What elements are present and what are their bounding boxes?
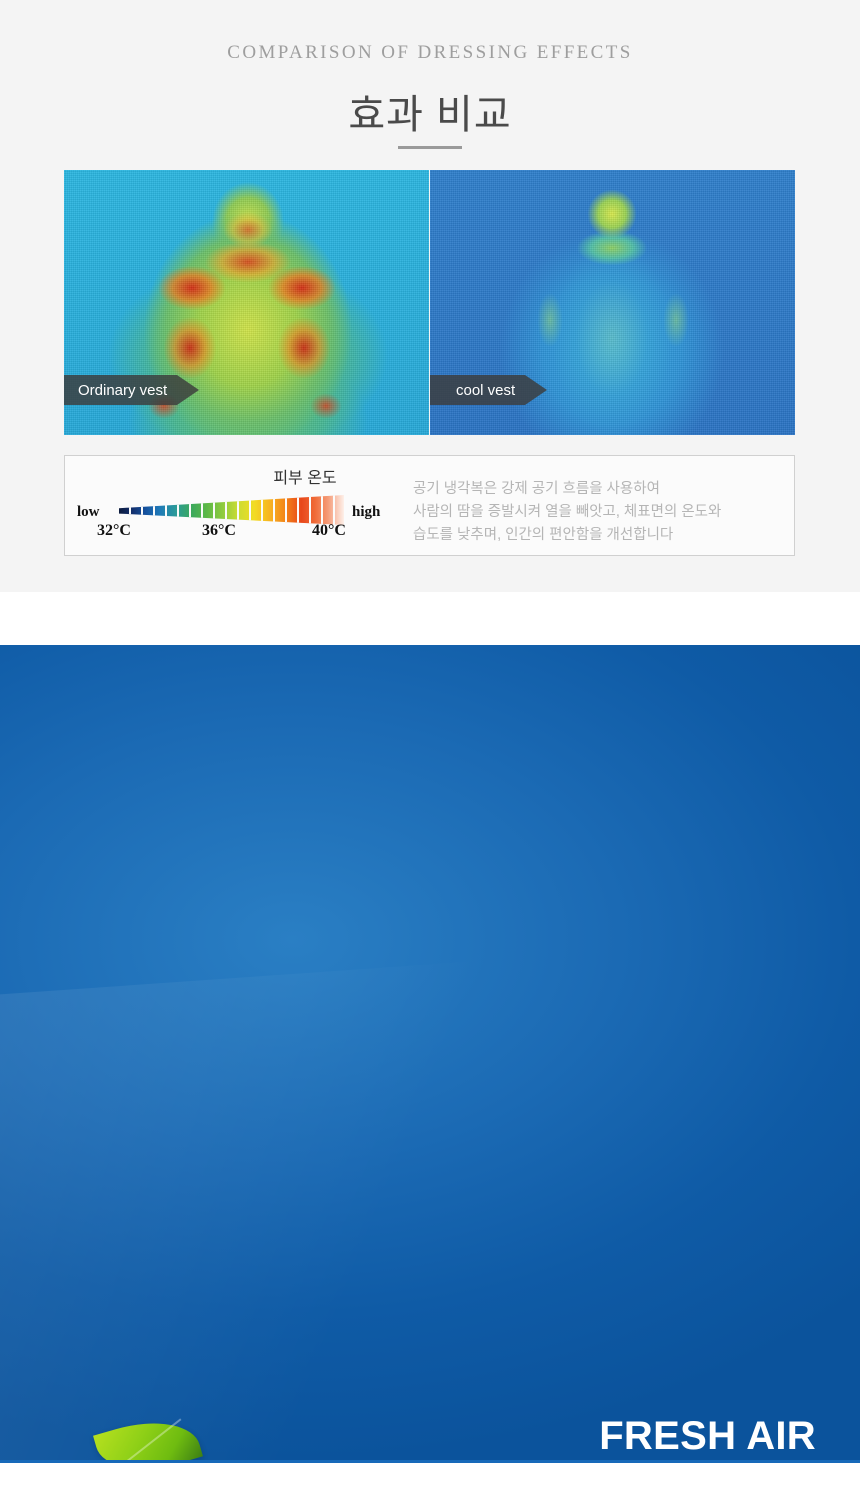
temperature-gradient-ticks bbox=[119, 495, 344, 525]
thermal-label-ordinary-text: Ordinary vest bbox=[64, 375, 177, 405]
comparison-section: COMPARISON OF DRESSING EFFECTS 효과 비교 Ord… bbox=[0, 0, 860, 592]
legend-description: 공기 냉각복은 강제 공기 흐름을 사용하여 사람의 땀을 증발시켜 열을 빼앗… bbox=[413, 478, 773, 547]
headline-line-1: FRESH AIR bbox=[196, 1413, 816, 1459]
legend-description-line-2: 사람의 땀을 증발시켜 열을 빼앗고, 체표면의 온도와 bbox=[413, 501, 773, 524]
background-sheen bbox=[0, 931, 860, 1463]
legend-high-label: high bbox=[352, 504, 380, 521]
thermal-image-ordinary-vest: Ordinary vest bbox=[64, 170, 429, 435]
thermal-label-cool-text: cool vest bbox=[430, 375, 525, 405]
fresh-air-section: FRESH AIR CIRCULATION Change the wind Cr… bbox=[0, 645, 860, 1463]
legend-description-line-1: 공기 냉각복은 강제 공기 흐름을 사용하여 bbox=[413, 478, 773, 501]
temperature-legend-box: 피부 온도 low high 32°C 36°C 40°C 공기 냉각복은 강제… bbox=[64, 455, 795, 556]
page-title: 효과 비교 bbox=[0, 82, 860, 140]
legend-temp-36: 36°C bbox=[202, 522, 236, 540]
arrow-right-icon bbox=[177, 375, 199, 405]
legend-title: 피부 온도 bbox=[195, 464, 415, 488]
section-bottom-edge bbox=[0, 1460, 860, 1463]
thermal-label-cool-vest: cool vest bbox=[430, 375, 547, 405]
legend-low-label: low bbox=[77, 504, 100, 521]
temperature-gradient-wedge bbox=[119, 495, 344, 525]
arrow-right-icon bbox=[525, 375, 547, 405]
temperature-gradient-fill bbox=[119, 495, 344, 525]
section-eyebrow: COMPARISON OF DRESSING EFFECTS bbox=[0, 42, 860, 64]
fresh-air-headline: FRESH AIR CIRCULATION bbox=[196, 1413, 816, 1463]
title-divider bbox=[398, 146, 462, 149]
legend-temp-40: 40°C bbox=[312, 522, 346, 540]
legend-description-line-3: 습도를 낮추며, 인간의 편안함을 개선합니다 bbox=[413, 524, 773, 547]
thermal-label-ordinary-vest: Ordinary vest bbox=[64, 375, 199, 405]
legend-temp-32: 32°C bbox=[97, 522, 131, 540]
thermal-image-cool-vest: cool vest bbox=[430, 170, 795, 435]
